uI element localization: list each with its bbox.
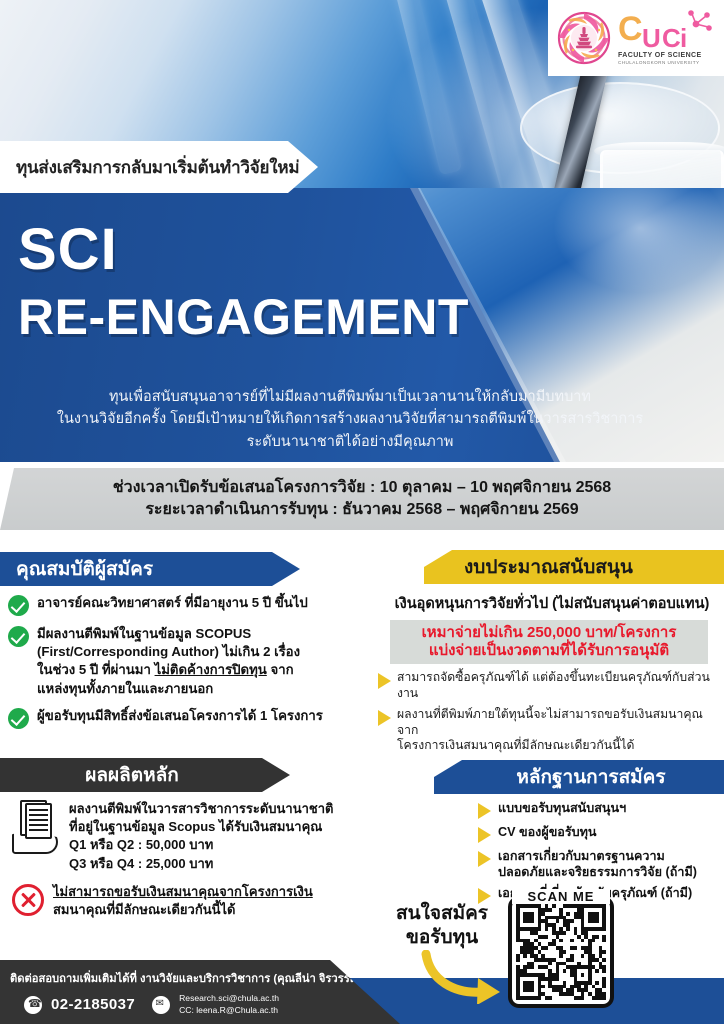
qualification-text-3: ผู้ขอรับทุนมีสิทธิ์ส่งข้อเสนอโครงการได้ …: [37, 707, 323, 725]
mail-icon: ✉: [152, 996, 170, 1014]
output-restriction-line-1: ไม่สามารถขอรับเงินสมนาคุณจากโครงการเงิน: [53, 884, 313, 899]
cta-line-1: สนใจสมัคร: [378, 902, 506, 926]
x-circle-icon: [12, 884, 44, 916]
budget-note-1: สามารถจัดซื้อครุภัณฑ์ได้ แต่ต้องขึ้นทะเบ…: [397, 670, 724, 702]
footer-contact-panel: ติดต่อสอบถามเพิ่มเติมได้ที่ งานวิจัยและบ…: [0, 960, 400, 1024]
check-circle-icon: [8, 626, 29, 647]
qr-code-matrix: [516, 904, 606, 1000]
hero-headline-1: SCI: [18, 216, 118, 283]
logo-caption-university: CHULALONGKORN UNIVERSITY: [618, 61, 714, 66]
list-item: CV ของผู้ขอรับทุน: [478, 824, 724, 843]
svg-text:U: U: [642, 23, 661, 50]
footer-title: ติดต่อสอบถามเพิ่มเติมได้ที่ งานวิจัยและบ…: [10, 969, 400, 987]
section-header-qualifications: คุณสมบัติผู้สมัคร: [0, 552, 300, 586]
list-item: มีผลงานตีพิมพ์ในฐานข้อมูล SCOPUS (First/…: [8, 625, 364, 698]
budget-subtitle: เงินอุดหนุนการวิจัยทั่วไป (ไม่สนับสนุนค่…: [380, 592, 724, 615]
footer-email-cc: CC: leena.R@Chula.ac.th: [179, 1005, 278, 1015]
list-item: อาจารย์คณะวิทยาศาสตร์ ที่มีอายุงาน 5 ปี …: [8, 594, 364, 616]
list-item: ผู้ขอรับทุนมีสิทธิ์ส่งข้อเสนอโครงการได้ …: [8, 707, 364, 729]
list-item: สามารถจัดซื้อครุภัณฑ์ได้ แต่ต้องขึ้นทะเบ…: [378, 670, 724, 702]
chula-emblem-icon: [556, 10, 612, 66]
arrow-bullet-icon: [478, 827, 491, 843]
timeline-banner: ช่วงเวลาเปิดรับข้อเสนอโครงการวิจัย : 10 …: [0, 468, 724, 530]
budget-note-2: ผลงานที่ตีพิมพ์ภายใต้ทุนนี้จะไม่สามารถขอ…: [397, 707, 724, 755]
document-item-3: เอกสารเกี่ยวกับมาตรฐานความ ปลอดภัยและจริ…: [498, 848, 697, 880]
qualification-text-2: มีผลงานตีพิมพ์ในฐานข้อมูล SCOPUS (First/…: [37, 625, 300, 698]
list-item: ไม่สามารถขอรับเงินสมนาคุณจากโครงการเงิน …: [12, 883, 372, 919]
budget-note-2-line-2: โครงการเงินสมนาคุณที่มีลักษณะเดียวกันนี้…: [397, 738, 634, 752]
footer-email-block[interactable]: Research.sci@chula.ac.th CC: leena.R@Chu…: [179, 993, 279, 1016]
output-text-publication: ผลงานตีพิมพ์ในวารสารวิชาการระดับนานาชาติ…: [69, 800, 333, 873]
list-item: ผลงานที่ตีพิมพ์ภายใต้ทุนนี้จะไม่สามารถขอ…: [378, 707, 724, 755]
qualification-2-underlined: ไม่ติดค้างการปิดทุน: [155, 662, 267, 677]
document-item-1: แบบขอรับทุนสนับสนุนฯ: [498, 800, 626, 816]
list-item: ผลงานตีพิมพ์ในวารสารวิชาการระดับนานาชาติ…: [12, 800, 372, 873]
footer-email: Research.sci@chula.ac.th: [179, 993, 279, 1003]
grant-duration-text: ระยะเวลาดำเนินการรับทุน : ธันวาคม 2568 –…: [145, 499, 578, 521]
footer-phone[interactable]: 02-2185037: [51, 996, 135, 1013]
hero-description-line-3: ระดับนานาชาติได้อย่างมีคุณภาพ: [40, 431, 660, 453]
list-item: เอกสารเกี่ยวกับมาตรฐานความ ปลอดภัยและจริ…: [478, 848, 724, 880]
output-line-1: ผลงานตีพิมพ์ในวารสารวิชาการระดับนานาชาติ: [69, 801, 333, 816]
sci-wordmark-icon: C U C i: [618, 10, 714, 50]
budget-heading: งบประมาณสนับสนุน: [464, 552, 633, 582]
footer-contact-row: ☎ 02-2185037 ✉ Research.sci@chula.ac.th …: [10, 993, 400, 1016]
output-restriction-text: ไม่สามารถขอรับเงินสมนาคุณจากโครงการเงิน …: [53, 883, 313, 919]
arrow-bullet-icon: [378, 710, 391, 726]
svg-text:i: i: [680, 23, 687, 50]
test-tube-icon: [380, 0, 462, 175]
arrow-bullet-icon: [378, 673, 391, 689]
document-on-hand-icon: [12, 800, 60, 856]
qualification-2-line-b: (First/Corresponding Author) ไม่เกิน 2 เ…: [37, 644, 300, 659]
arrow-bullet-icon: [478, 851, 491, 867]
list-item: แบบขอรับทุนสนับสนุนฯ: [478, 800, 724, 819]
hero-subtitle-text: ทุนส่งเสริมการกลับมาเริ่มต้นทำวิจัยใหม่: [0, 154, 299, 181]
curved-arrow-icon: [420, 950, 510, 1004]
section-header-budget: งบประมาณสนับสนุน: [424, 550, 724, 584]
outputs-list: ผลงานตีพิมพ์ในวารสารวิชาการระดับนานาชาติ…: [12, 800, 372, 929]
budget-note-2-line-1: ผลงานที่ตีพิมพ์ภายใต้ทุนนี้จะไม่สามารถขอ…: [397, 707, 703, 737]
qr-scan-label: SCAN ME: [512, 889, 610, 904]
qr-code[interactable]: [508, 896, 614, 1008]
hero-subtitle-tab: ทุนส่งเสริมการกลับมาเริ่มต้นทำวิจัยใหม่: [0, 141, 318, 193]
qualification-text-1: อาจารย์คณะวิทยาศาสตร์ ที่มีอายุงาน 5 ปี …: [37, 594, 308, 612]
phone-icon: ☎: [24, 996, 42, 1014]
documents-heading: หลักฐานการสมัคร: [516, 762, 665, 792]
qualification-2-line-d: แหล่งทุนทั้งภายในและภายนอก: [37, 681, 213, 696]
svg-text:C: C: [618, 10, 643, 48]
section-header-outputs: ผลผลิตหลัก: [0, 758, 290, 792]
qualification-2-line-c: ในช่วง 5 ปี ที่ผ่านมา: [37, 662, 155, 677]
budget-notes-list: สามารถจัดซื้อครุภัณฑ์ได้ แต่ต้องขึ้นทะเบ…: [378, 670, 724, 759]
check-circle-icon: [8, 708, 29, 729]
faculty-logo: C U C i FACULTY OF SCIENCE CH: [548, 0, 724, 76]
submission-period-text: ช่วงเวลาเปิดรับข้อเสนอโครงการวิจัย : 10 …: [113, 477, 611, 499]
poster-root: C U C i FACULTY OF SCIENCE CH: [0, 0, 724, 1024]
hero-description-line-2: ในงานวิจัยอีกครั้ง โดยมีเป้าหมายให้เกิดก…: [40, 408, 660, 430]
output-line-4-q3q4: Q3 หรือ Q4 : 25,000 บาท: [69, 856, 213, 871]
qualifications-list: อาจารย์คณะวิทยาศาสตร์ ที่มีอายุงาน 5 ปี …: [8, 594, 364, 738]
logo-caption-faculty: FACULTY OF SCIENCE: [618, 52, 714, 59]
cta-text: สนใจสมัคร ขอรับทุน: [378, 902, 506, 950]
document-item-3-line-1: เอกสารเกี่ยวกับมาตรฐานความ: [498, 849, 665, 863]
section-header-documents: หลักฐานการสมัคร: [434, 760, 724, 794]
budget-highlight-box: เหมาจ่ายไม่เกิน 250,000 บาท/โครงการ แบ่ง…: [390, 620, 708, 664]
cta-line-2: ขอรับทุน: [378, 926, 506, 950]
document-item-3-line-2: ปลอดภัยและจริยธรรมการวิจัย (ถ้ามี): [498, 865, 697, 879]
qualifications-heading: คุณสมบัติผู้สมัคร: [16, 554, 153, 584]
budget-highlight-line-1: เหมาจ่ายไม่เกิน 250,000 บาท/โครงการ: [422, 624, 677, 642]
output-line-2: ที่อยู่ในฐานข้อมูล Scopus ได้รับเงินสมนา…: [69, 819, 322, 834]
output-restriction-line-2: สมนาคุณที่มีลักษณะเดียวกันนี้ได้: [53, 902, 235, 917]
arrow-bullet-icon: [478, 803, 491, 819]
qualification-2-line-c-tail: จาก: [267, 662, 294, 677]
document-item-2: CV ของผู้ขอรับทุน: [498, 824, 597, 840]
hero-description-line-1: ทุนเพื่อสนับสนุนอาจารย์ที่ไม่มีผลงานตีพิ…: [40, 386, 660, 408]
hero-headline-2: RE-ENGAGEMENT: [18, 288, 469, 346]
check-circle-icon: [8, 595, 29, 616]
output-line-3-q1q2: Q1 หรือ Q2 : 50,000 บาท: [69, 837, 213, 852]
svg-text:C: C: [662, 23, 681, 50]
outputs-heading: ผลผลิตหลัก: [85, 760, 179, 790]
budget-highlight-line-2: แบ่งจ่ายเป็นงวดตามที่ได้รับการอนุมัติ: [429, 642, 669, 660]
hero-description: ทุนเพื่อสนับสนุนอาจารย์ที่ไม่มีผลงานตีพิ…: [40, 386, 660, 453]
qualification-2-line-a: มีผลงานตีพิมพ์ในฐานข้อมูล SCOPUS: [37, 626, 251, 641]
